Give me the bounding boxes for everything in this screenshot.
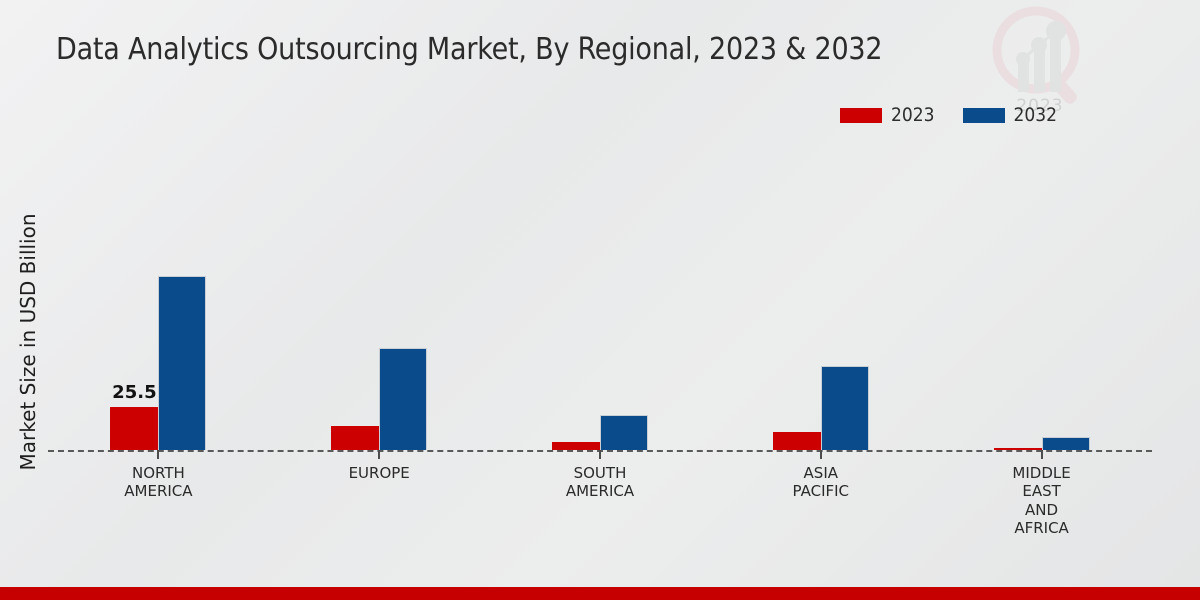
bar-2023[interactable]: 25.5 [110,407,158,450]
bar-group: ASIA PACIFIC [710,140,931,450]
x-axis-category-label: NORTH AMERICA [124,464,192,501]
bar-2032[interactable] [821,366,869,450]
legend-label-2032: 2032 [1014,104,1058,126]
chart-legend: 2023 2032 [840,104,1057,126]
page-title: Data Analytics Outsourcing Market, By Re… [56,32,882,67]
legend-swatch-2023 [840,108,882,123]
x-axis-tick [157,450,159,459]
x-axis-tick [378,450,380,459]
bar-2023[interactable] [331,426,379,450]
bar-2032[interactable] [158,276,206,450]
x-axis-category-label: SOUTH AMERICA [566,464,634,501]
bar-2032[interactable] [379,348,427,450]
x-axis-category-label: EUROPE [349,464,410,482]
bar-group: 25.5NORTH AMERICA [48,140,269,450]
legend-item-2032[interactable]: 2032 [963,104,1058,126]
bar-2023[interactable] [773,432,821,450]
footer-accent-bar [0,587,1200,600]
x-axis-tick [820,450,822,459]
bar-group: MIDDLE EAST AND AFRICA [931,140,1152,450]
x-axis-category-label: ASIA PACIFIC [793,464,850,501]
x-axis-tick [1041,450,1043,459]
bar-2023[interactable] [552,442,600,450]
bar-group: EUROPE [269,140,490,450]
x-axis-category-label: MIDDLE EAST AND AFRICA [1012,464,1070,537]
legend-swatch-2032 [963,108,1005,123]
legend-item-2023[interactable]: 2023 [840,104,935,126]
legend-label-2023: 2023 [891,104,935,126]
bar-2032[interactable] [1042,437,1090,450]
bar-2023[interactable] [994,448,1042,450]
chart-page: 2023 Data Analytics Outsourcing Market, … [0,0,1200,600]
x-axis-tick [599,450,601,459]
bar-2032[interactable] [600,415,648,450]
y-axis-title: Market Size in USD Billion [16,162,40,522]
bar-group: SOUTH AMERICA [490,140,711,450]
plot-area: 25.5NORTH AMERICAEUROPESOUTH AMERICAASIA… [48,140,1152,450]
bar-value-label: 25.5 [112,382,156,403]
